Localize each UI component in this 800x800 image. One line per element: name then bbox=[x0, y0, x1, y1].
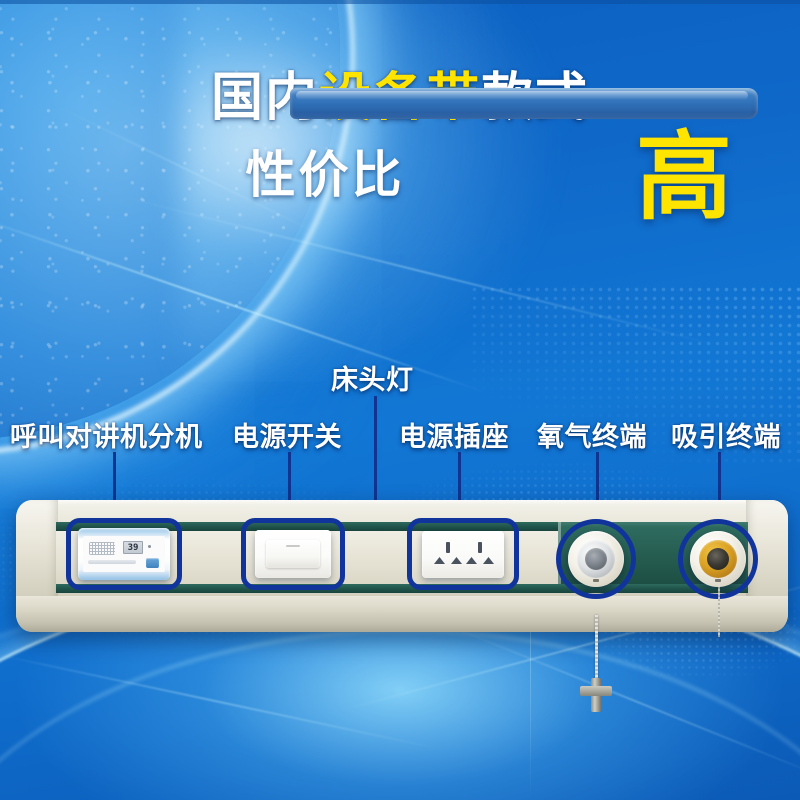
pull-cord-cross-hook[interactable] bbox=[580, 678, 612, 712]
highlight-marker-oxygen bbox=[556, 519, 636, 599]
panel-lower-lip bbox=[16, 596, 788, 632]
callout-label-switch: 电源开关 bbox=[232, 415, 342, 454]
callout-label-intercom: 呼叫对讲机分机 bbox=[10, 415, 203, 454]
bed-light-diffuser[interactable] bbox=[290, 88, 758, 119]
suction-drain-tube bbox=[718, 585, 720, 637]
callout-label-bedlight: 床头灯 bbox=[331, 358, 414, 397]
poster-canvas: 国内设备带款式 性价比 高 呼叫对讲机分机 电源开关 床头灯 电源插座 氧气终端… bbox=[0, 0, 800, 800]
callout-label-socket: 电源插座 bbox=[399, 415, 509, 454]
headline-line-2-row: 性价比 高 bbox=[0, 146, 800, 222]
headline-big-char: 高 bbox=[636, 130, 732, 226]
highlight-marker-switch bbox=[241, 518, 345, 590]
pull-cord[interactable] bbox=[595, 615, 598, 683]
top-edge-band bbox=[0, 0, 800, 4]
hook-horizontal-arm bbox=[580, 686, 612, 696]
callout-label-oxygen: 氧气终端 bbox=[537, 415, 647, 454]
diffuser-gloss bbox=[296, 91, 748, 100]
callout-label-suction: 吸引终端 bbox=[671, 415, 781, 454]
highlight-marker-intercom bbox=[66, 518, 182, 590]
highlight-marker-socket bbox=[407, 518, 519, 590]
